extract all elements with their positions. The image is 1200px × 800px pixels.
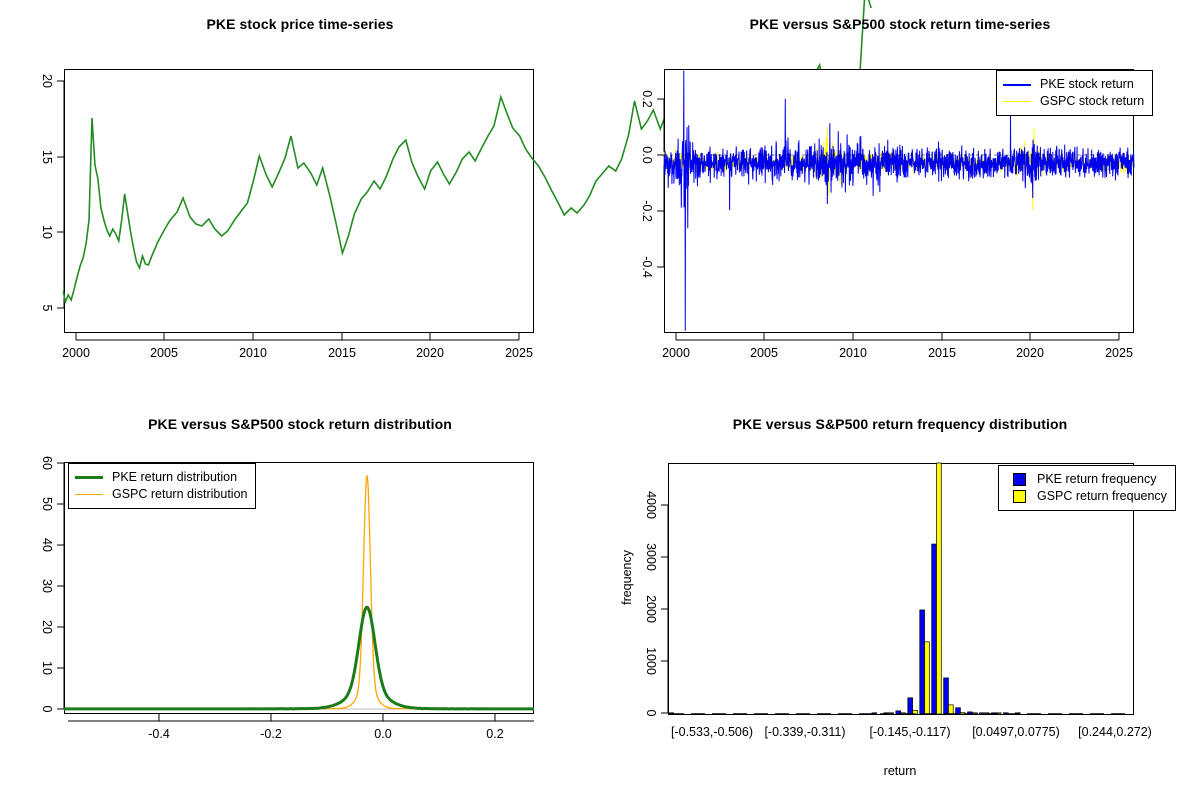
- legend-item-pke-distribution: PKE return distribution: [75, 469, 247, 486]
- panel-return-frequency: PKE versus S&P500 return frequency distr…: [600, 400, 1200, 800]
- legend-line-gspc-return: [1003, 101, 1031, 102]
- ylabel-bottom-right: frequency: [620, 550, 634, 605]
- ytick-top-right-1: -0.2: [640, 200, 654, 222]
- legend-swatch-gspc-frequency: [1013, 490, 1026, 503]
- xtick-top-left-0: 2000: [62, 346, 90, 360]
- ytick-top-left-1: 10: [40, 225, 54, 239]
- ytick-bottom-left-3: 30: [40, 579, 54, 593]
- panel-return-distribution: PKE versus S&P500 stock return distribut…: [0, 400, 600, 800]
- bar: [956, 708, 961, 714]
- ytick-top-right-0: -0.4: [640, 256, 654, 278]
- xtick-top-right-4: 2020: [1016, 346, 1044, 360]
- legend-label-gspc-frequency: GSPC return frequency: [1037, 488, 1167, 505]
- ytick-bottom-left-5: 50: [40, 497, 54, 511]
- ytick-bottom-right-4: 4000: [644, 491, 658, 519]
- legend-label-pke-frequency: PKE return frequency: [1037, 471, 1157, 488]
- xtick-bottom-right-0: [-0.533,-0.506): [671, 725, 753, 739]
- plot-grid: PKE stock price time-series: [0, 0, 1200, 800]
- ytick-bottom-right-3: 3000: [644, 543, 658, 571]
- xlabel-bottom-right: return: [600, 764, 1200, 778]
- y-axis-ticks-top-left: [57, 81, 64, 308]
- xtick-top-right-2: 2010: [839, 346, 867, 360]
- ytick-bottom-right-0: 0: [644, 710, 658, 717]
- xtick-bottom-right-2: [-0.145,-0.117): [869, 725, 950, 739]
- series-pke-distribution: [64, 607, 534, 708]
- xtick-bottom-right-4: [0.244,0.272): [1078, 725, 1152, 739]
- legend-item-pke-frequency: PKE return frequency: [1005, 471, 1167, 488]
- legend-line-pke-return: [1003, 84, 1031, 86]
- y-axis-ticks-bottom-right: [661, 505, 668, 713]
- ytick-bottom-left-1: 10: [40, 661, 54, 675]
- plot-canvas-top-right: [600, 0, 1200, 400]
- ytick-top-left-2: 15: [40, 150, 54, 164]
- xtick-top-right-1: 2005: [750, 346, 778, 360]
- ytick-bottom-left-2: 20: [40, 620, 54, 634]
- plot-canvas-bottom-right: [600, 400, 1200, 800]
- legend-swatch-pke-frequency: [1013, 473, 1026, 486]
- legend-label-gspc-distribution: GSPC return distribution: [112, 486, 247, 503]
- ytick-top-right-3: 0.2: [640, 90, 654, 107]
- panel-pke-price: PKE stock price time-series: [0, 0, 600, 400]
- ytick-top-left-0: 5: [40, 305, 54, 312]
- x-axis-ticks-top-right: [676, 333, 1119, 340]
- xtick-top-right-3: 2015: [928, 346, 956, 360]
- ytick-bottom-right-2: 2000: [644, 595, 658, 623]
- xtick-bottom-right-3: [0.0497,0.0775): [972, 725, 1060, 739]
- xtick-bottom-left-2: 0.0: [374, 727, 391, 741]
- xtick-bottom-left-0: -0.4: [148, 727, 170, 741]
- bar: [944, 678, 949, 714]
- xtick-top-left-4: 2020: [416, 346, 444, 360]
- x-axis-ticks-top-left: [76, 333, 519, 340]
- legend-label-gspc-return: GSPC stock return: [1040, 93, 1144, 110]
- legend-item-gspc-distribution: GSPC return distribution: [75, 486, 247, 503]
- bar: [932, 544, 937, 714]
- plot-canvas-bottom-left: [0, 400, 600, 800]
- y-axis-ticks-top-right: [657, 99, 664, 267]
- legend-item-gspc-return: GSPC stock return: [1003, 93, 1144, 110]
- legend-line-gspc-distribution: [75, 494, 103, 495]
- xtick-bottom-left-1: -0.2: [260, 727, 282, 741]
- legend-line-pke-distribution: [75, 476, 103, 479]
- legend-bottom-right: PKE return frequency GSPC return frequen…: [998, 465, 1176, 511]
- panel-pke-gspc-returns: PKE versus S&P500 stock return time-seri…: [600, 0, 1200, 400]
- ytick-top-left-3: 20: [40, 74, 54, 88]
- plot-canvas-top-left: [0, 0, 600, 400]
- bar: [980, 713, 985, 714]
- bar: [920, 610, 925, 714]
- bar: [896, 711, 901, 714]
- y-axis-ticks-bottom-left: [57, 463, 64, 709]
- bars-bottom-right: [669, 463, 1020, 714]
- ytick-bottom-left-0: 0: [40, 706, 54, 713]
- legend-bottom-left: PKE return distribution GSPC return dist…: [68, 463, 256, 509]
- legend-label-pke-return: PKE stock return: [1040, 76, 1134, 93]
- bar: [908, 698, 913, 714]
- x-axis-ticks-bottom-left: [68, 714, 534, 721]
- ytick-top-right-2: 0.0: [640, 146, 654, 163]
- ytick-bottom-left-4: 40: [40, 538, 54, 552]
- ytick-bottom-left-6: 60: [40, 456, 54, 470]
- xtick-top-left-1: 2005: [150, 346, 178, 360]
- xtick-top-left-3: 2015: [328, 346, 356, 360]
- xtick-top-left-5: 2025: [505, 346, 533, 360]
- legend-label-pke-distribution: PKE return distribution: [112, 469, 237, 486]
- xtick-top-right-0: 2000: [662, 346, 690, 360]
- bar: [948, 705, 953, 714]
- series-gspc-distribution: [64, 475, 534, 708]
- xtick-top-left-2: 2010: [239, 346, 267, 360]
- legend-top-right: PKE stock return GSPC stock return: [996, 70, 1153, 116]
- xtick-bottom-right-1: [-0.339,-0.311): [764, 725, 845, 739]
- xtick-top-right-5: 2025: [1105, 346, 1133, 360]
- legend-item-pke-return: PKE stock return: [1003, 76, 1144, 93]
- bar: [925, 642, 930, 714]
- legend-item-gspc-frequency: GSPC return frequency: [1005, 488, 1167, 505]
- xtick-bottom-left-3: 0.2: [486, 727, 503, 741]
- ytick-bottom-right-1: 1000: [644, 647, 658, 675]
- bar: [936, 463, 941, 714]
